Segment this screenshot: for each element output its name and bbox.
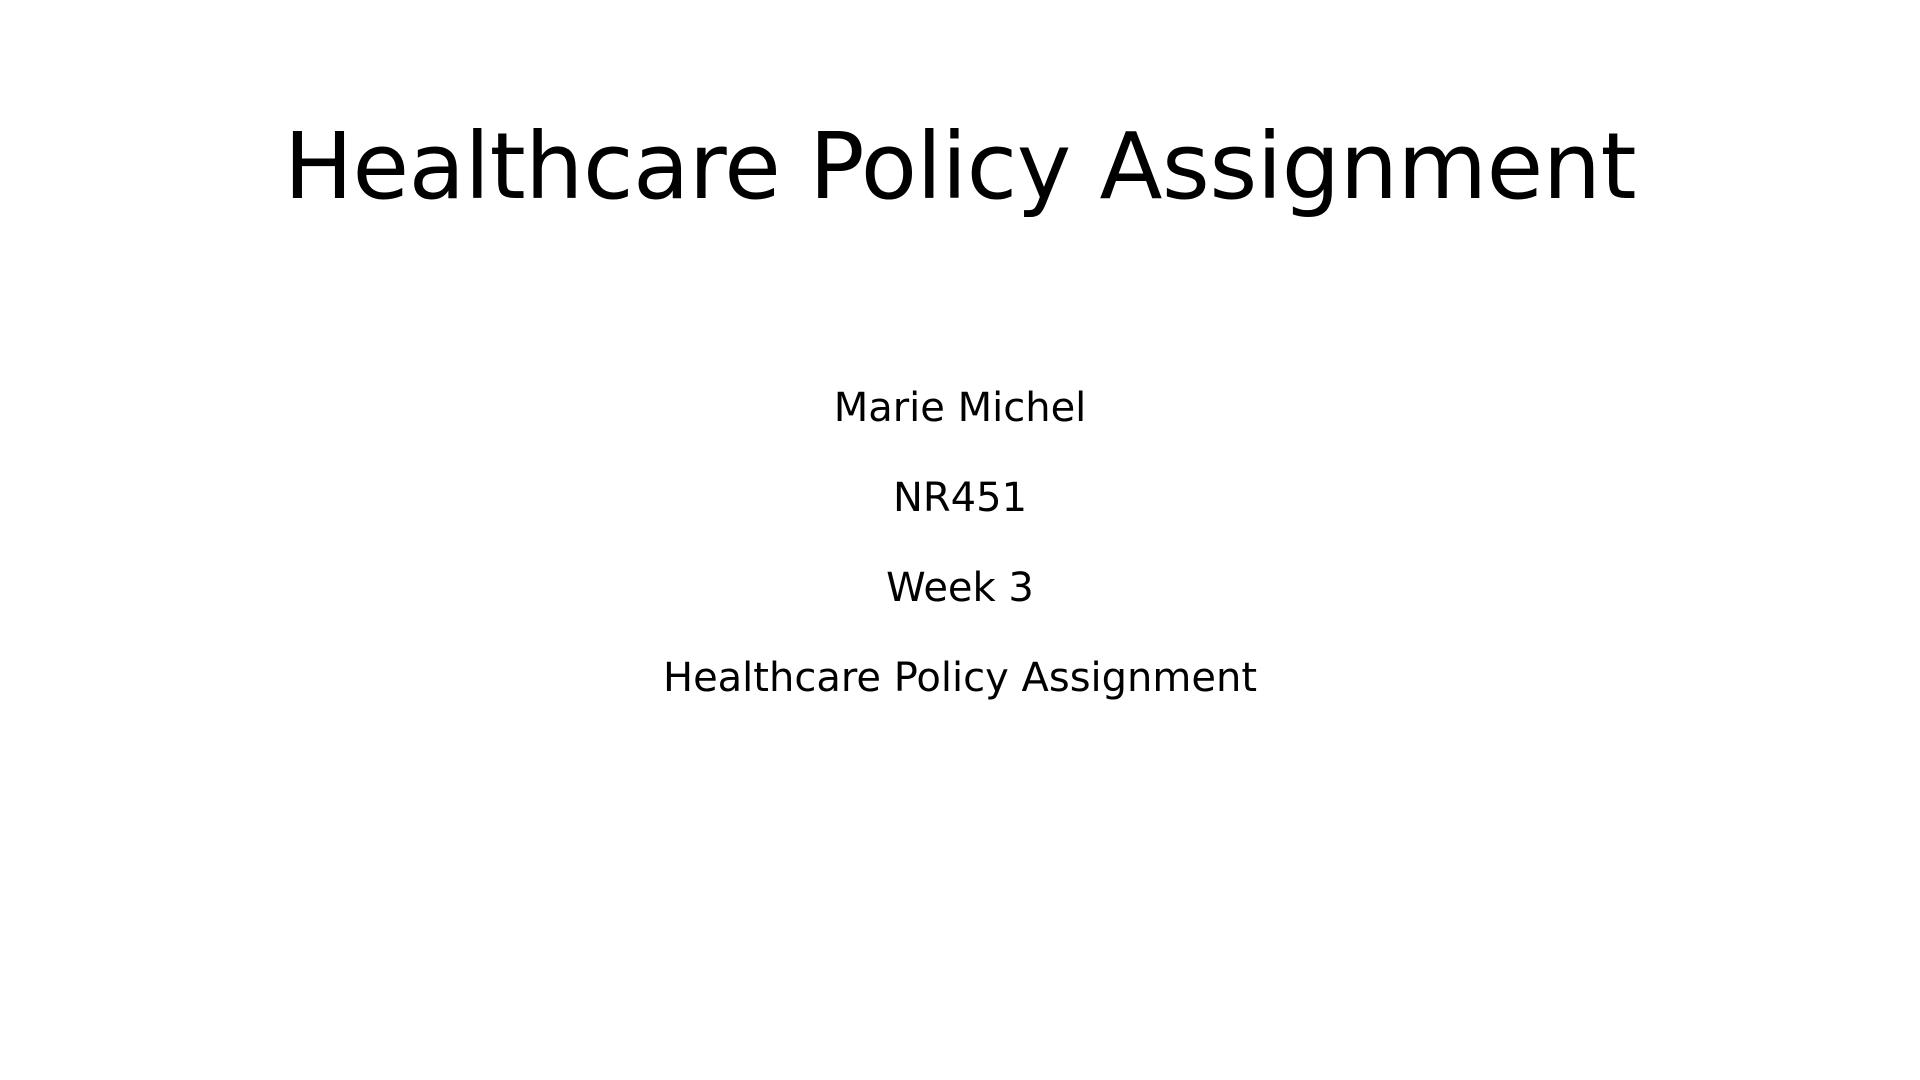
course-code: NR451	[0, 478, 1920, 518]
week-label: Week 3	[0, 568, 1920, 608]
title-block: Healthcare Policy Assignment	[0, 118, 1920, 216]
subtitle-block: Marie Michel NR451 Week 3 Healthcare Pol…	[0, 388, 1920, 698]
author-name: Marie Michel	[0, 388, 1920, 428]
presentation-slide: Healthcare Policy Assignment Marie Miche…	[0, 0, 1920, 1080]
assignment-name: Healthcare Policy Assignment	[0, 658, 1920, 698]
slide-title: Healthcare Policy Assignment	[0, 118, 1920, 216]
